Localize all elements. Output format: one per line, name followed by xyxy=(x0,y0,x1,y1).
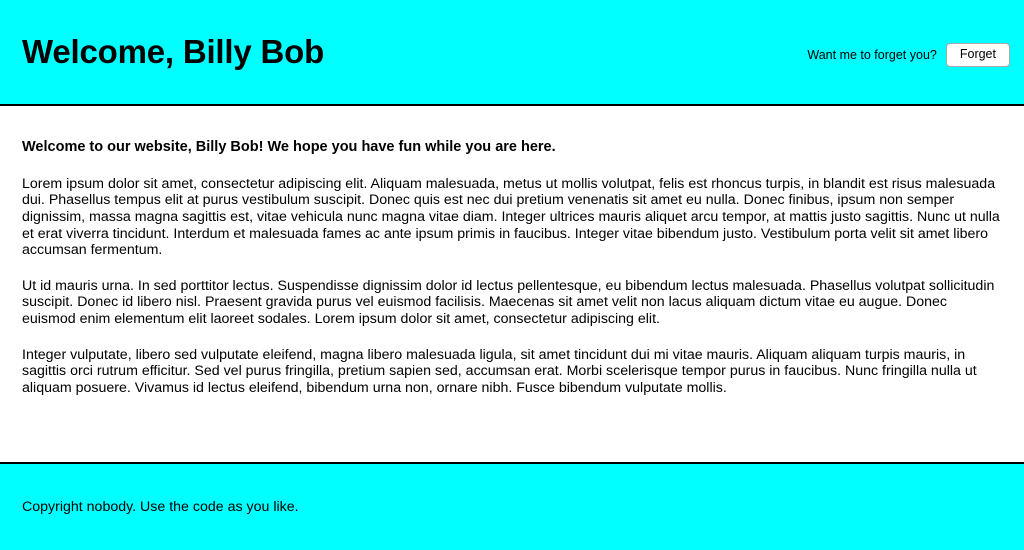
body-paragraph: Ut id mauris urna. In sed porttitor lect… xyxy=(22,278,1002,328)
forget-prompt-label: Want me to forget you? xyxy=(807,48,936,62)
page-title: Welcome, Billy Bob xyxy=(22,34,324,70)
main-content: Welcome to our website, Billy Bob! We ho… xyxy=(0,106,1024,396)
body-paragraph: Lorem ipsum dolor sit amet, consectetur … xyxy=(22,176,1002,259)
forget-button[interactable]: Forget xyxy=(946,43,1010,67)
welcome-heading: Welcome to our website, Billy Bob! We ho… xyxy=(22,138,1002,157)
site-footer: Copyright nobody. Use the code as you li… xyxy=(0,462,1024,550)
forget-area: Want me to forget you? Forget xyxy=(807,43,1010,67)
copyright-text: Copyright nobody. Use the code as you li… xyxy=(22,498,299,516)
site-header: Welcome, Billy Bob Want me to forget you… xyxy=(0,0,1024,106)
body-paragraph: Integer vulputate, libero sed vulputate … xyxy=(22,347,1002,397)
